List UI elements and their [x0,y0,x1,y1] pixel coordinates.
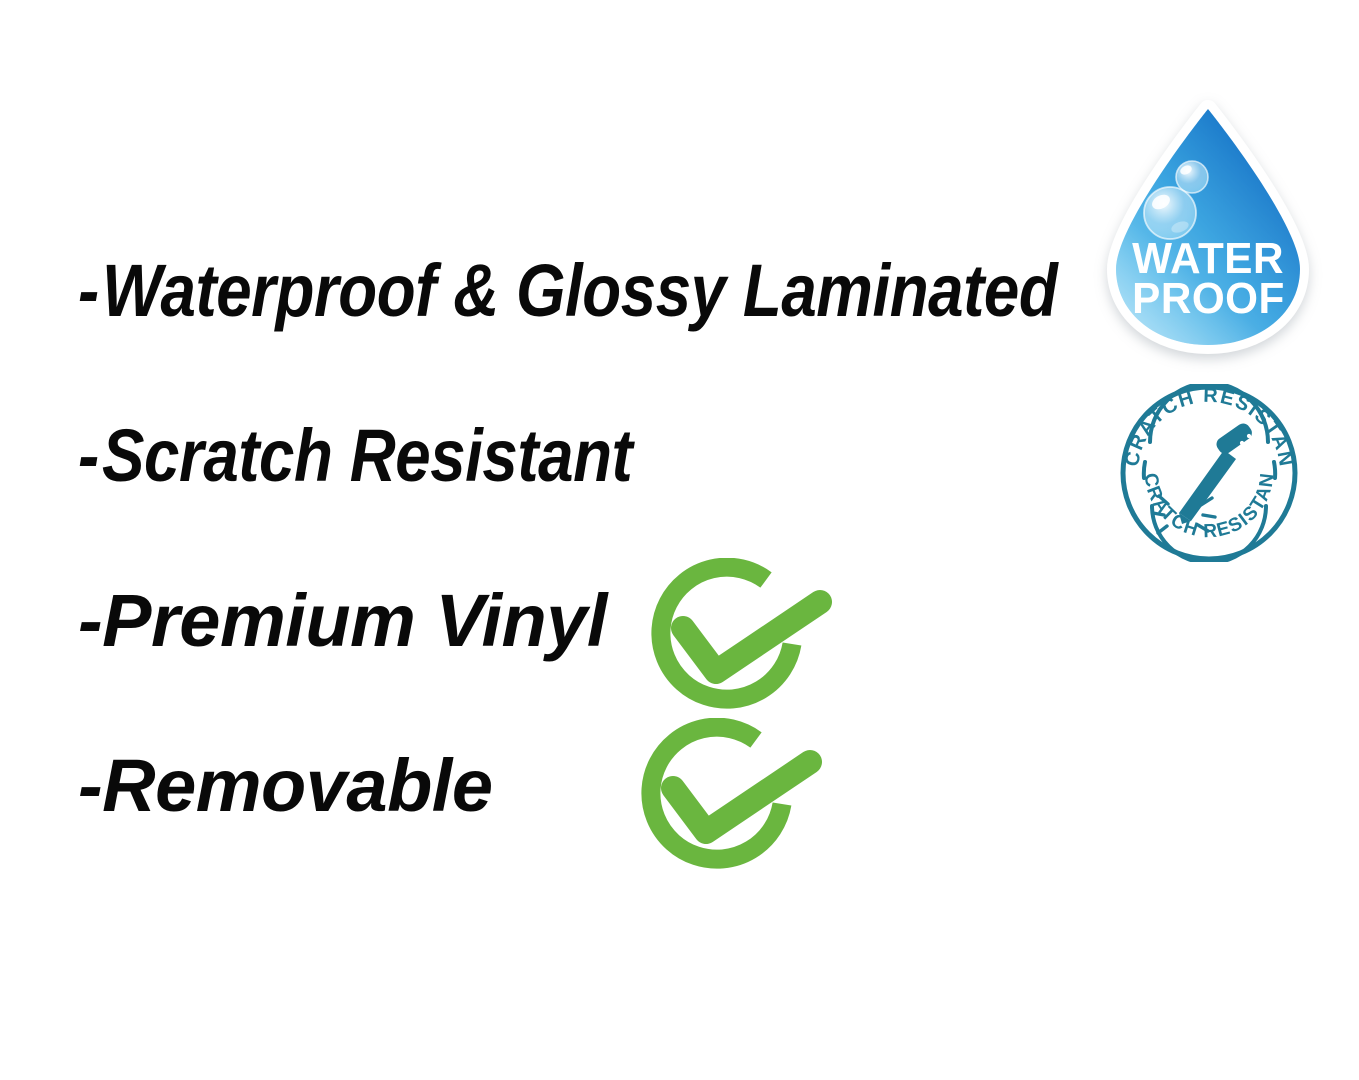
bubble-small-icon [1176,161,1208,193]
feature-label: Removable [102,747,492,825]
water-drop-icon [1104,103,1312,351]
check-circle-icon [628,718,824,890]
feature-item-scratch-resistant: - Scratch Resistant [78,417,1098,582]
check-stroke [673,762,810,832]
feature-item-premium-vinyl: - Premium Vinyl [78,582,1098,747]
check-stroke [683,602,820,672]
feature-label: Scratch Resistant [102,417,632,495]
feature-label: Waterproof & Glossy Laminated [102,252,1057,330]
drop-sheen [1116,109,1300,345]
feature-prefix: - [78,747,102,825]
feature-item-waterproof-glossy-laminated: - Waterproof & Glossy Laminated [78,252,1098,417]
knife-stamp-icon: SCRATCH RESISTANT SCRATCH RESISTANT [1120,384,1298,562]
check-circle-icon [638,558,834,730]
bubble-large-icon [1144,187,1196,239]
stamp-text-top: SCRATCH RESISTANT [1120,384,1297,469]
feature-prefix: - [78,582,102,660]
scratch-resistant-badge: SCRATCH RESISTANT SCRATCH RESISTANT [1120,384,1298,562]
check-circle-2 [628,718,824,890]
feature-label: Premium Vinyl [102,582,607,660]
check-circle-1 [638,558,834,730]
waterproof-badge: WATER PROOF [1104,103,1312,351]
feature-list: - Waterproof & Glossy Laminated - Scratc… [78,252,1098,912]
feature-item-removable: - Removable [78,747,1098,912]
feature-prefix: - [78,252,99,330]
feature-prefix: - [78,417,99,495]
